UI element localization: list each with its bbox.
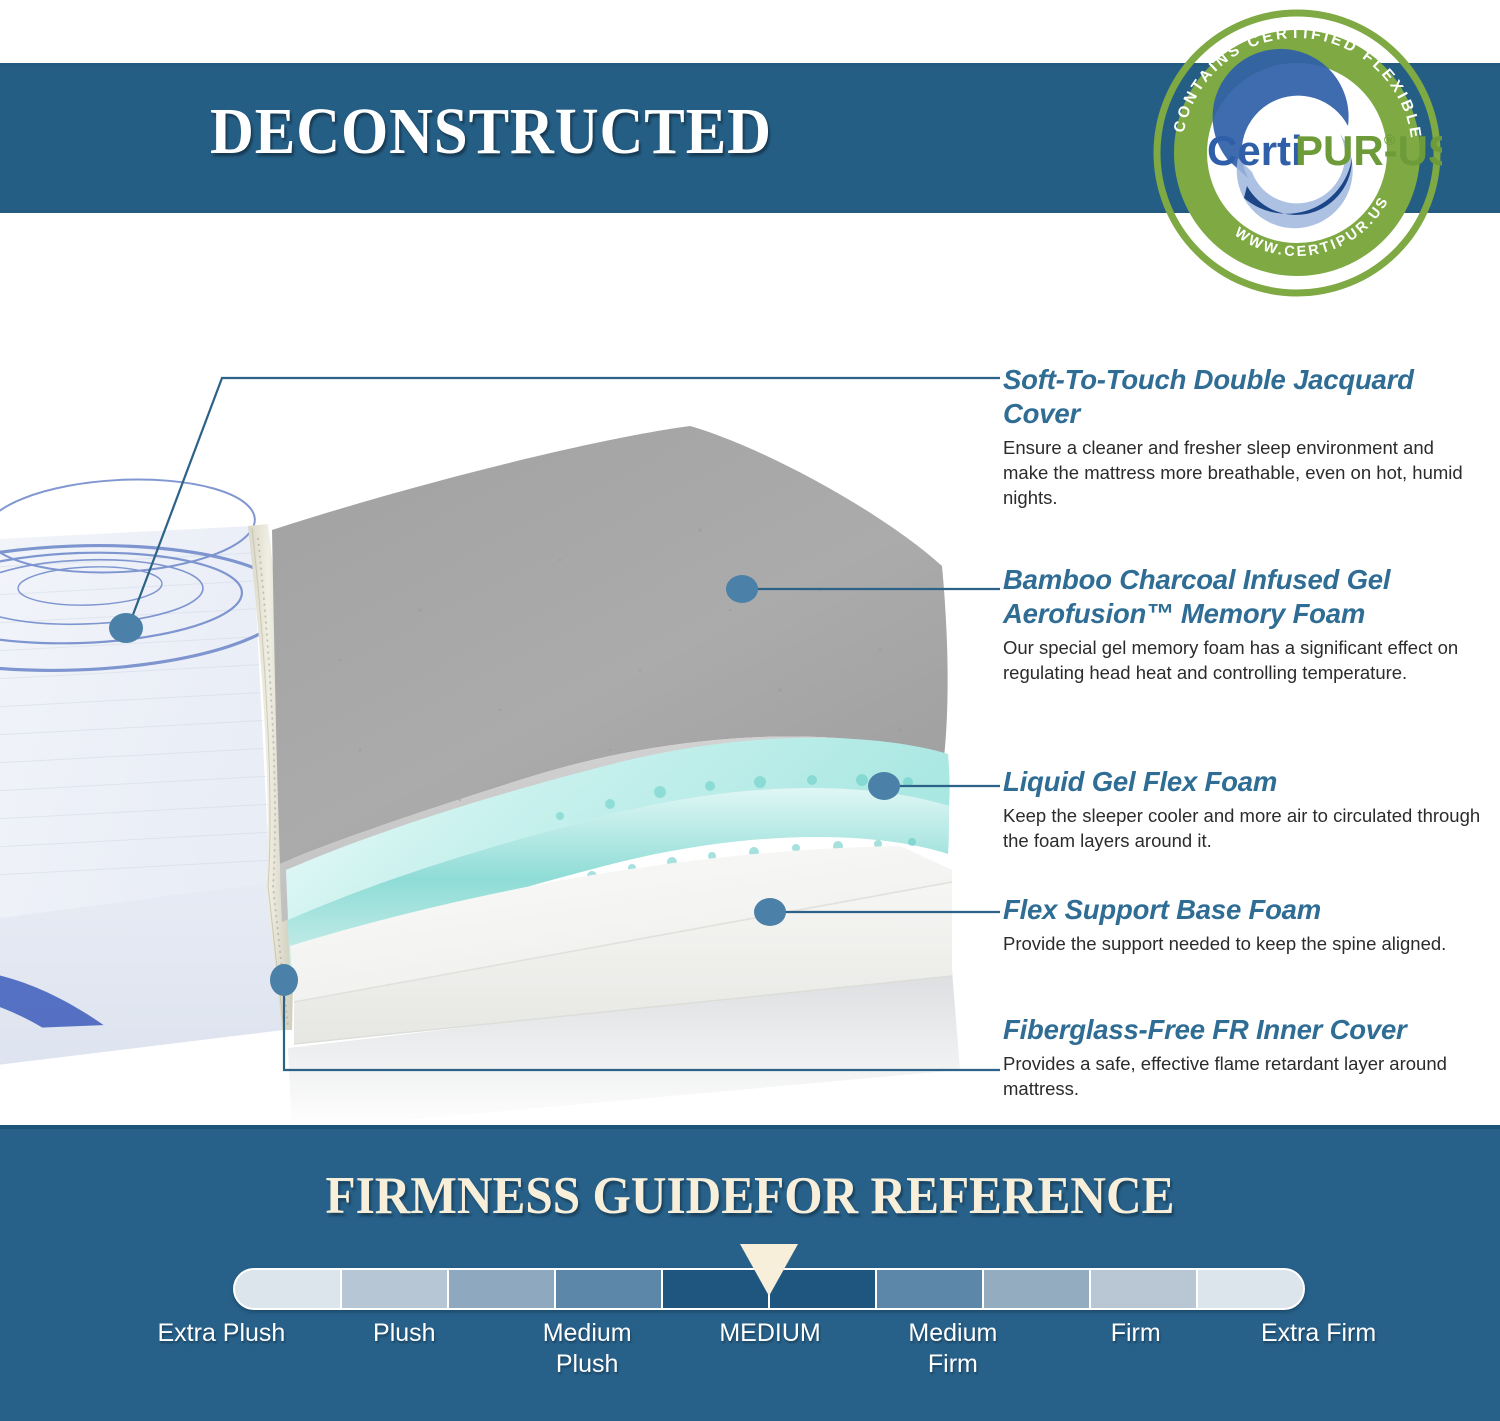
firmness-label-3: MEDIUM: [679, 1318, 862, 1408]
callout-title: Flex Support Base Foam: [1003, 893, 1483, 927]
callout-title: Fiberglass-Free FR Inner Cover: [1003, 1013, 1483, 1047]
firmness-segment-1[interactable]: [342, 1270, 449, 1308]
firmness-segment-3[interactable]: [556, 1270, 663, 1308]
firmness-marker: [740, 1244, 798, 1296]
mattress-layers-diagram: [0, 330, 1000, 1120]
page-title: DECONSTRUCTED: [210, 92, 854, 172]
callout-title: Liquid Gel Flex Foam: [1003, 765, 1483, 799]
firmness-label-6: Extra Firm: [1227, 1318, 1410, 1408]
callout-description: Ensure a cleaner and fresher sleep envir…: [1003, 435, 1483, 510]
callout-description: Our special gel memory foam has a signif…: [1003, 635, 1483, 685]
firmness-segment-0[interactable]: [235, 1270, 342, 1308]
callout-description: Provide the support needed to keep the s…: [1003, 931, 1483, 956]
dot-fr-inner-cover: [270, 964, 298, 996]
dot-liquid-gel: [868, 772, 900, 800]
firmness-scale[interactable]: [233, 1268, 1305, 1310]
dot-base-foam: [754, 898, 786, 926]
firmness-label-4: MediumFirm: [861, 1318, 1044, 1408]
callout-title: Bamboo Charcoal Infused Gel Aerofusion™ …: [1003, 563, 1483, 631]
badge-registered-mark: ®: [1384, 132, 1395, 149]
dot-cover: [109, 613, 143, 643]
firmness-label-5: Firm: [1044, 1318, 1227, 1408]
firmness-labels: Extra PlushPlushMediumPlushMEDIUMMediumF…: [130, 1318, 1410, 1408]
callout-description: Keep the sleeper cooler and more air to …: [1003, 803, 1483, 853]
callout-title: Soft-To-Touch Double Jacquard Cover: [1003, 363, 1483, 431]
firmness-segment-8[interactable]: [1091, 1270, 1198, 1308]
firmness-label-0: Extra Plush: [130, 1318, 313, 1408]
callout-liquid-gel-flex-foam: Liquid Gel Flex Foam Keep the sleeper co…: [1003, 765, 1483, 853]
badge-logo-certi: Certi: [1207, 127, 1303, 174]
firmness-segment-7[interactable]: [984, 1270, 1091, 1308]
callout-soft-to-touch-double-jacquard-cover: Soft-To-Touch Double Jacquard Cover Ensu…: [1003, 363, 1483, 510]
firmness-label-2: MediumPlush: [496, 1318, 679, 1408]
certipur-us-badge: CONTAINS CERTIFIED FLEXIBLE POLYURETHANE…: [1152, 8, 1442, 298]
firmness-segment-2[interactable]: [449, 1270, 556, 1308]
callout-fiberglass-free-fr-inner-cover: Fiberglass-Free FR Inner Cover Provides …: [1003, 1013, 1483, 1101]
callout-bamboo-charcoal-infused-gel-aerofusion-memory-foam: Bamboo Charcoal Infused Gel Aerofusion™ …: [1003, 563, 1483, 685]
firmness-label-1: Plush: [313, 1318, 496, 1408]
firmness-panel-top-edge: [0, 1125, 1500, 1129]
callout-description: Provides a safe, effective flame retarda…: [1003, 1051, 1483, 1101]
jacquard-cover-layer: [0, 473, 292, 1120]
firmness-guide-heading: FIRMNESS GUIDEFOR REFERENCE: [53, 1165, 1448, 1227]
badge-logo-purus: PUR-US: [1295, 127, 1442, 174]
dot-memory-foam: [726, 575, 758, 603]
callout-flex-support-base-foam: Flex Support Base Foam Provide the suppo…: [1003, 893, 1483, 956]
firmness-segment-9[interactable]: [1198, 1270, 1303, 1308]
marker-triangle-icon: [740, 1244, 798, 1296]
firmness-segment-6[interactable]: [877, 1270, 984, 1308]
